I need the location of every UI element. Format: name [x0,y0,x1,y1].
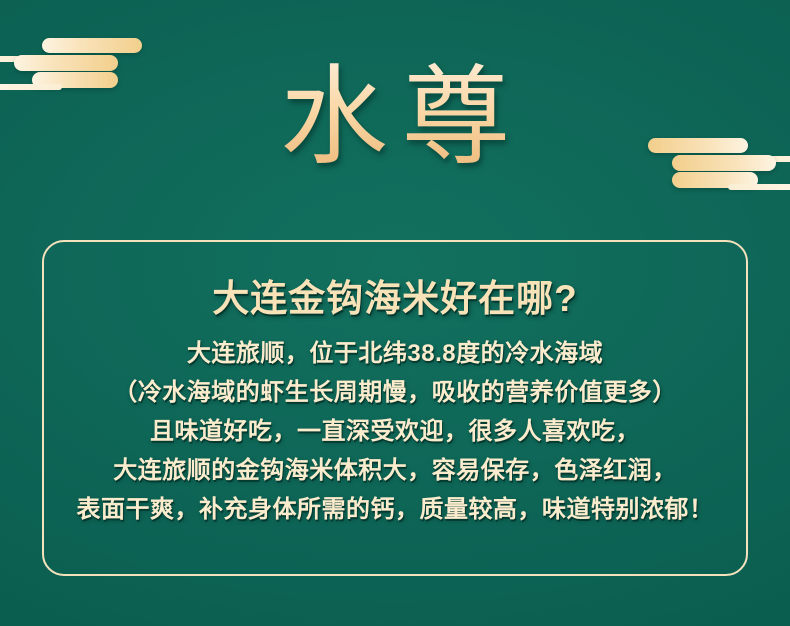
body-line: 大连旅顺的金钩海米体积大，容易保存，色泽红润， [44,451,746,490]
body-line: 大连旅顺，位于北纬38.8度的冷水海域 [44,334,746,373]
cloud-bar-1 [42,38,142,53]
body-line: 且味道好吃，一直深受欢迎，很多人喜欢吃， [44,412,746,451]
panel-heading: 大连金钩海米好在哪? [44,268,746,322]
cloud-stroke-lower [728,184,790,190]
panel-body-text: 大连旅顺，位于北纬38.8度的冷水海域 （冷水海域的虾生长周期慢，吸收的营养价值… [44,334,746,529]
product-detail-banner: 水尊 大连金钩海米好在哪? 大连旅顺，位于北纬38.8度的冷水海域 （冷水海域的… [0,0,790,626]
body-line: （冷水海域的虾生长周期慢，吸收的营养价值更多） [44,373,746,412]
brand-title: 水尊 [0,62,790,175]
info-panel: 大连金钩海米好在哪? 大连旅顺，位于北纬38.8度的冷水海域 （冷水海域的虾生长… [42,240,748,576]
body-line: 表面干爽，补充身体所需的钙，质量较高，味道特别浓郁！ [44,490,746,529]
